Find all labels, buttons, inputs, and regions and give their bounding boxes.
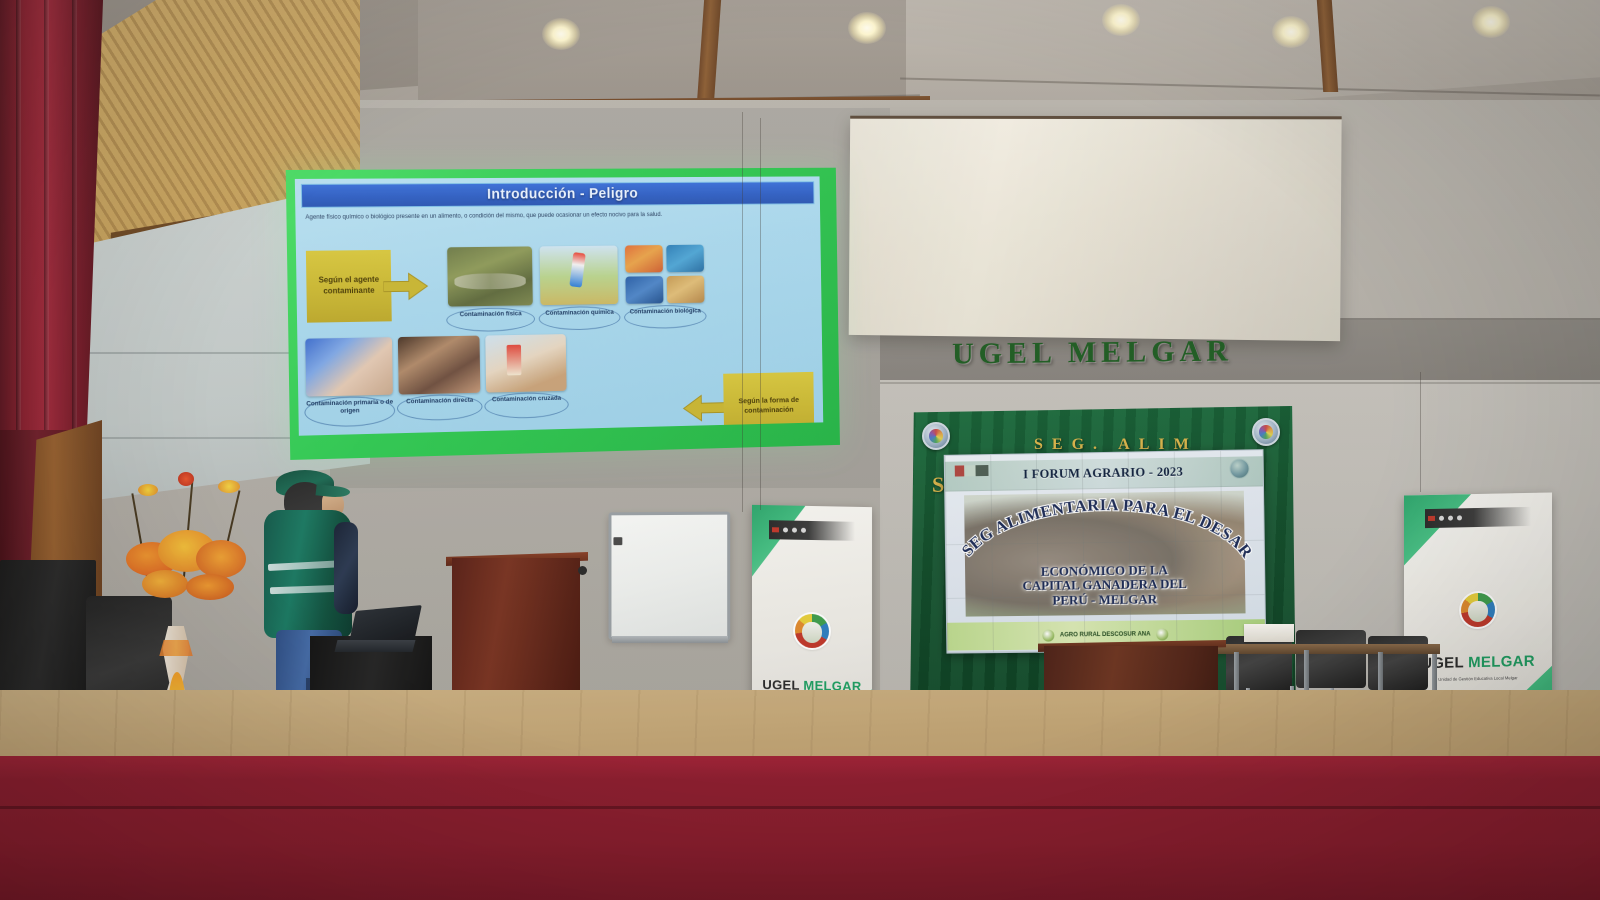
hanging-cable-2 <box>760 118 761 510</box>
thumb-biologica-b <box>666 245 704 273</box>
rollup-swoosh-top-r <box>1404 492 1475 571</box>
caption-contaminacion-quimica: Contaminación química <box>539 309 621 318</box>
arrow-left-icon <box>683 393 726 423</box>
laptop-base <box>335 640 416 652</box>
banner-sponsor-text: AGRO RURAL DESCOSUR ANA <box>1060 632 1151 639</box>
hanging-cable-1 <box>742 112 743 512</box>
slide-title-bar: Introducción - Peligro <box>301 181 815 208</box>
thumb-contaminacion-cruzada <box>485 334 566 392</box>
ugel-crest-icon <box>795 614 829 649</box>
projected-slide: Introducción - Peligro Agente físico quí… <box>286 168 840 460</box>
rollup-header-logos <box>769 520 855 541</box>
drape-emblem-right <box>1252 418 1280 446</box>
rollup-logo-dot-1 <box>783 528 788 533</box>
rollup-logo-dot-3 <box>801 528 806 533</box>
caption-contaminacion-biologica: Contaminación biológica <box>624 307 706 316</box>
rollup-flag-icon-r <box>1428 516 1435 521</box>
whiteboard-tray <box>612 636 728 643</box>
ugel-crest-icon-r <box>1461 593 1495 628</box>
rollup-swoosh-top <box>752 505 808 586</box>
ceiling-downlight-3 <box>1102 4 1140 36</box>
thumb-contaminacion-directa <box>398 336 480 395</box>
presenter-arm <box>334 522 358 614</box>
caption-contaminacion-primaria: Contaminación primaria o de origen <box>304 399 395 417</box>
curtain-fold-1 <box>16 0 21 480</box>
curtain-fold-2 <box>44 0 49 480</box>
caption-contaminacion-fisica: Contaminación física <box>446 310 535 319</box>
banner-top-strip: I FORUM AGRARIO - 2023 <box>945 456 1263 491</box>
thumb-biologica-d <box>667 276 705 304</box>
callout-agente-contaminante: Según el agente contaminante <box>306 250 392 323</box>
curtain-fold-3 <box>72 0 77 480</box>
rollup-title-melgar-r: MELGAR <box>1468 653 1535 671</box>
wall-seam-bottom <box>880 382 1600 384</box>
ceiling-downlight-4 <box>1272 16 1310 48</box>
flower-arrangement <box>120 470 252 638</box>
ceiling-downlight-1 <box>542 18 580 50</box>
screen-shading <box>849 119 1342 342</box>
auditorium-scene: Introducción - Peligro Agente físico quí… <box>0 0 1600 900</box>
rollup-flag-icon <box>772 527 779 532</box>
sponsor-badge-icon-2 <box>1156 628 1168 640</box>
slide-title: Introducción - Peligro <box>487 186 638 203</box>
arrow-right-icon <box>383 271 428 301</box>
drape-emblem-left <box>922 422 950 450</box>
long-table <box>1214 644 1440 654</box>
rollup-logo-dot-1r <box>1439 516 1444 521</box>
flower-cluster-5 <box>186 574 234 600</box>
podium-knob-icon <box>578 566 587 575</box>
stage-apron <box>0 756 1600 900</box>
slide-diagram: Según el agente contaminante Contaminaci… <box>302 240 818 432</box>
ceiling-downlight-5 <box>1472 6 1510 38</box>
whiteboard <box>609 512 731 641</box>
slide-content: Introducción - Peligro Agente físico quí… <box>295 176 823 435</box>
rollup-logo-dot-2 <box>792 528 797 533</box>
drape-gold-left: S <box>932 472 944 498</box>
hanging-cable-3 <box>1420 372 1421 492</box>
thumb-biologica-c <box>625 276 663 304</box>
event-banner: I FORUM AGRARIO - 2023 SEG ALIMENTARIA P… <box>944 449 1267 653</box>
flower-head-2 <box>178 472 194 486</box>
thumb-contaminacion-primaria <box>305 337 393 396</box>
blank-projection-screen <box>849 116 1342 341</box>
flower-cluster-3 <box>196 540 246 578</box>
stage-apron-groove <box>0 806 1600 809</box>
ceiling-downlight-2 <box>848 12 886 44</box>
flower-head-3 <box>218 480 240 493</box>
thumb-biologica-a <box>625 245 663 273</box>
banner-title-forum: I FORUM AGRARIO - 2023 <box>1023 465 1183 483</box>
rollup-logo-dot-2r <box>1448 516 1453 521</box>
rollup-logo-dot-3r <box>1457 515 1462 520</box>
flower-cluster-4 <box>142 570 188 598</box>
whiteboard-marker-holder <box>613 537 622 545</box>
thumb-contaminacion-fisica <box>447 246 533 306</box>
stacked-papers <box>1244 624 1294 642</box>
thumb-contaminacion-quimica <box>540 246 619 306</box>
sponsor-badge-icon <box>1042 630 1054 642</box>
wall-letters-ugel-melgar: UGEL MELGAR <box>952 335 1233 372</box>
flower-head-1 <box>138 484 158 496</box>
rollup-header-logos-r <box>1425 507 1532 528</box>
slide-body-text: Agente físico químico o biológico presen… <box>301 209 814 222</box>
banner-mid-text: ECONÓMICO DE LA CAPITAL GANADERA DEL PER… <box>965 562 1245 609</box>
